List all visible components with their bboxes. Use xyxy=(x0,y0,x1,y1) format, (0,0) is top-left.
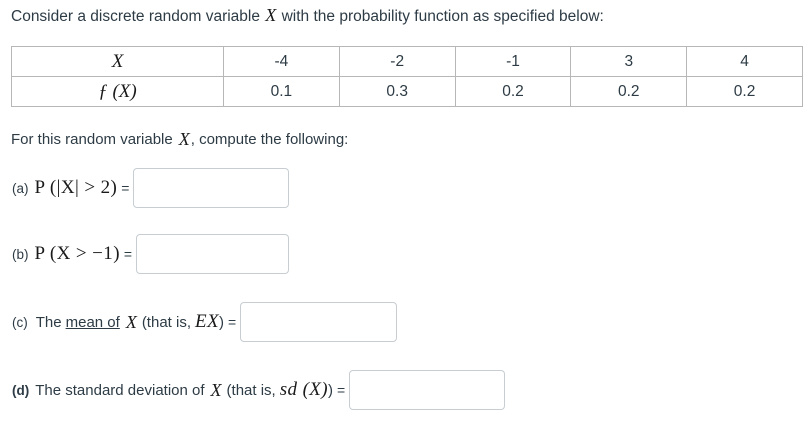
cell-x-4: 4 xyxy=(687,47,803,77)
question-a-expression: P (|X| > 2) xyxy=(35,177,118,199)
probability-function-table: X -4 -2 -1 3 4 ƒ (X) 0.1 0.3 0.2 0.2 0.2 xyxy=(11,46,803,107)
cell-f-3: 0.2 xyxy=(571,77,687,107)
cell-f-2: 0.2 xyxy=(455,77,571,107)
answer-input-b[interactable] xyxy=(136,234,289,274)
question-d-text-3: ) xyxy=(328,382,333,399)
question-c-equals: = xyxy=(228,314,236,330)
question-d-equals: = xyxy=(337,382,345,398)
prompt-text-before: For this random variable xyxy=(11,131,173,148)
question-a-label: (a) xyxy=(12,181,29,196)
intro-text-after: with the probability function as specifi… xyxy=(282,8,604,25)
compute-prompt: For this random variable X , compute the… xyxy=(11,129,348,150)
question-d-text-2: (that is, xyxy=(227,382,276,399)
prompt-text-after: , compute the following: xyxy=(191,131,349,148)
intro-text-before: Consider a discrete random variable xyxy=(11,8,260,25)
question-d-expression: sd (X) xyxy=(280,379,328,401)
answer-input-c[interactable] xyxy=(240,302,397,342)
question-a-equals: = xyxy=(121,180,129,196)
question-c-expression: EX xyxy=(195,311,219,333)
question-d: (d) The standard deviation of X (that is… xyxy=(12,370,505,410)
intro-sentence: Consider a discrete random variable X wi… xyxy=(11,5,604,27)
answer-input-d[interactable] xyxy=(349,370,505,410)
row-header-x: X xyxy=(12,47,224,77)
question-b: (b) P (X > −1) = xyxy=(12,234,289,274)
question-b-label: (b) xyxy=(12,247,29,262)
table-row-x: X -4 -2 -1 3 4 xyxy=(12,47,803,77)
question-b-expression: P (X > −1) xyxy=(35,243,120,265)
question-d-label: (d) xyxy=(12,383,29,398)
cell-f-1: 0.3 xyxy=(339,77,455,107)
question-c: (c) The mean of X (that is, EX ) = xyxy=(12,302,397,342)
question-d-variable-x: X xyxy=(210,380,223,401)
row-header-fx: ƒ (X) xyxy=(12,77,224,107)
cell-x-3: 3 xyxy=(571,47,687,77)
cell-f-0: 0.1 xyxy=(224,77,340,107)
cell-x-0: -4 xyxy=(224,47,340,77)
question-c-label: (c) xyxy=(12,315,28,330)
cell-f-4: 0.2 xyxy=(687,77,803,107)
table-row-f: ƒ (X) 0.1 0.3 0.2 0.2 0.2 xyxy=(12,77,803,107)
cell-x-2: -1 xyxy=(455,47,571,77)
answer-input-a[interactable] xyxy=(133,168,289,208)
question-c-underlined-term: mean of xyxy=(66,314,120,331)
question-page: Consider a discrete random variable X wi… xyxy=(0,0,811,432)
question-c-text-3: ) xyxy=(219,314,224,331)
intro-variable-x: X xyxy=(264,5,277,25)
question-c-variable-x: X xyxy=(125,312,138,333)
question-d-text-1: The standard deviation of xyxy=(35,382,204,399)
question-c-text-1: The xyxy=(36,314,62,331)
question-a: (a) P (|X| > 2) = xyxy=(12,168,289,208)
question-b-equals: = xyxy=(124,246,132,262)
cell-x-1: -2 xyxy=(339,47,455,77)
question-c-text-2: (that is, xyxy=(142,314,191,331)
prompt-variable-x: X xyxy=(178,129,191,150)
